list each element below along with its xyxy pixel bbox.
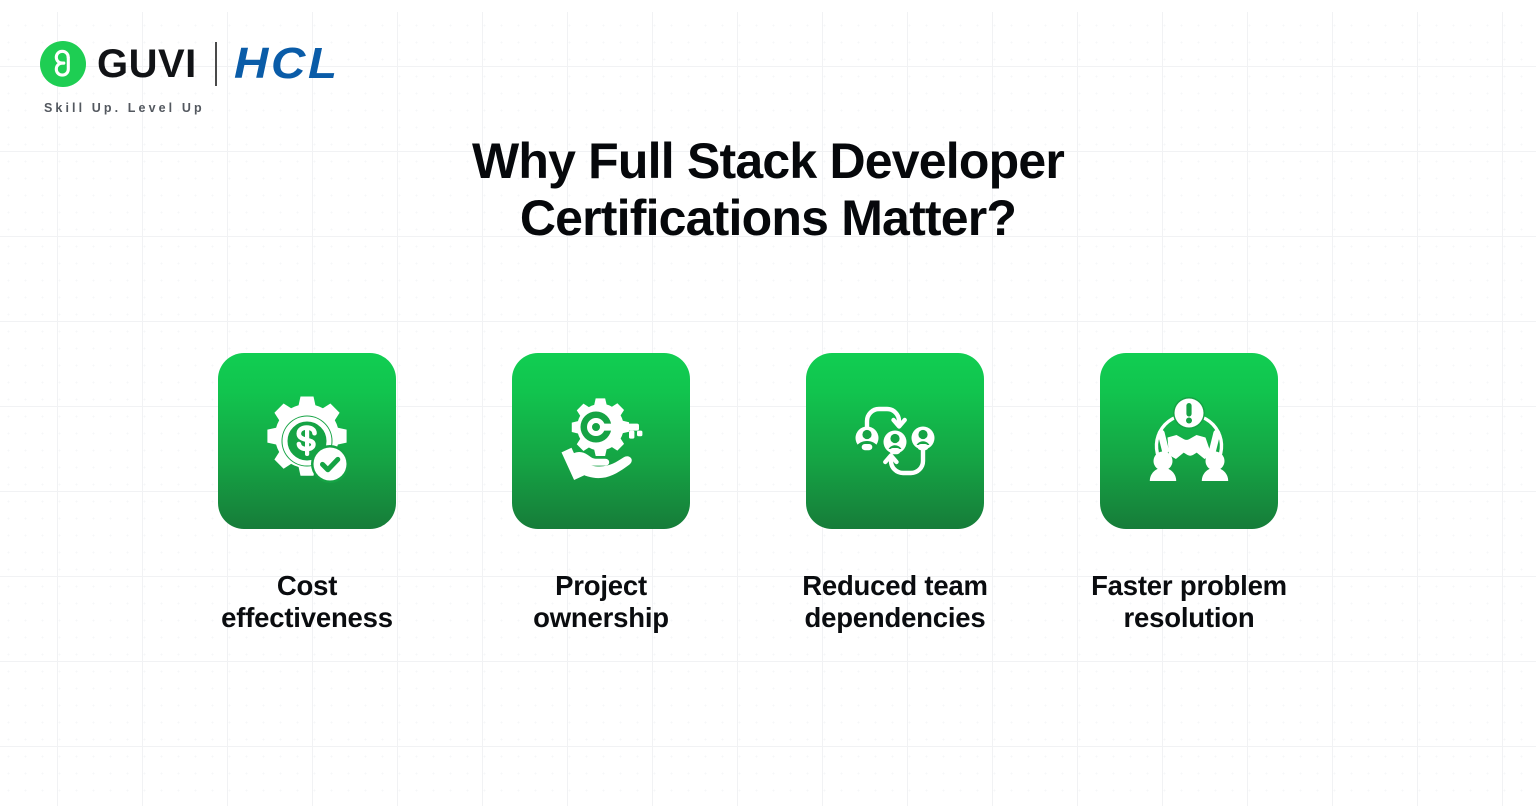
benefit-card-reduced-team-dependencies[interactable]: Reduced team dependencies [806,353,984,635]
brand-divider [215,42,217,86]
page-title-line-1: Why Full Stack Developer [472,133,1064,189]
benefit-card-project-ownership[interactable]: Project ownership [512,353,690,635]
guvi-wordmark: GUVI [97,44,197,84]
benefit-card-tile[interactable] [1100,353,1278,529]
benefit-card-tile[interactable] [806,353,984,529]
slide-canvas: GUVI HCL Skill Up. Level Up Why Full Sta… [0,0,1536,806]
gear-dollar-check-icon [255,389,359,493]
benefit-card-label: Reduced team dependencies [770,570,1020,635]
page-title: Why Full Stack Developer Certifications … [0,133,1536,246]
benefit-card-label: Cost effectiveness [182,570,432,635]
team-arrows-people-icon [843,389,947,493]
handshake-alert-people-icon [1137,389,1241,493]
benefit-card-tile[interactable] [218,353,396,529]
hand-holding-gear-key-icon [549,389,653,493]
brand-row: GUVI HCL [40,38,332,90]
guvi-g-monogram-icon [40,41,86,87]
benefit-card-row: Cost effectiveness [218,353,1278,635]
page-title-line-2: Certifications Matter? [0,190,1536,247]
hcl-wordmark: HCL [234,42,340,86]
benefit-card-label: Faster problem resolution [1064,570,1314,635]
benefit-card-cost-effectiveness[interactable]: Cost effectiveness [218,353,396,635]
benefit-card-faster-problem-resolution[interactable]: Faster problem resolution [1100,353,1278,635]
benefit-card-label: Project ownership [496,570,706,635]
benefit-card-tile[interactable] [512,353,690,529]
brand-tagline: Skill Up. Level Up [44,101,332,115]
brand-lockup: GUVI HCL Skill Up. Level Up [40,38,332,115]
